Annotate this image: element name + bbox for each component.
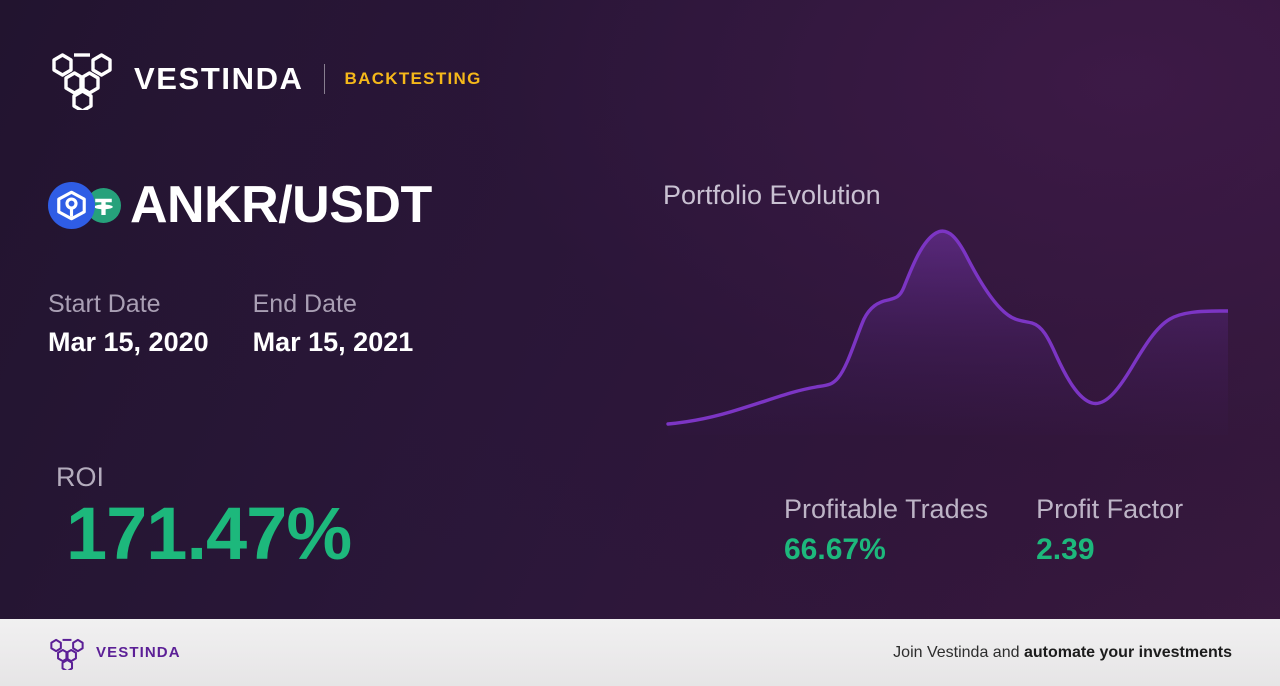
chart-title: Portfolio Evolution: [663, 180, 881, 211]
header: VESTINDA BACKTESTING: [48, 48, 482, 110]
vestinda-hex-logo-icon: [48, 48, 116, 110]
footer-cta: Join Vestinda and automate your investme…: [893, 644, 1232, 662]
trading-pair: ANKR/USDT: [48, 178, 432, 232]
header-divider: [324, 64, 325, 94]
profit-factor-label: Profit Factor: [1036, 492, 1183, 527]
roi-label: ROI: [56, 460, 351, 495]
profit-factor-block: Profit Factor 2.39: [1036, 492, 1183, 572]
footer-brand: VESTINDA: [48, 636, 181, 670]
footer-cta-lead: Join Vestinda and: [893, 644, 1024, 661]
footer-brand-name: VESTINDA: [96, 644, 181, 661]
date-range: Start Date Mar 15, 2020 End Date Mar 15,…: [48, 288, 413, 362]
end-date-block: End Date Mar 15, 2021: [253, 288, 414, 362]
roi-value: 171.47%: [66, 495, 351, 573]
pair-name: ANKR/USDT: [130, 179, 432, 231]
profitable-trades-block: Profitable Trades 66.67%: [784, 492, 988, 572]
end-date-label: End Date: [253, 288, 414, 322]
brand-name: VESTINDA: [134, 61, 304, 97]
portfolio-evolution-chart: [660, 215, 1228, 435]
profitable-trades-value: 66.67%: [784, 527, 988, 572]
vestinda-hex-logo-icon: [48, 636, 86, 670]
profit-factor-value: 2.39: [1036, 527, 1183, 572]
coin-pair-icons: [48, 178, 130, 232]
footer: VESTINDA Join Vestinda and automate your…: [0, 619, 1280, 686]
roi-block: ROI 171.47%: [56, 460, 351, 573]
end-date-value: Mar 15, 2021: [253, 322, 414, 363]
start-date-block: Start Date Mar 15, 2020: [48, 288, 209, 362]
start-date-value: Mar 15, 2020: [48, 322, 209, 363]
header-tag: BACKTESTING: [345, 69, 482, 89]
backtest-result-card: VESTINDA BACKTESTING ANKR/USDT: [0, 0, 1280, 686]
start-date-label: Start Date: [48, 288, 209, 322]
performance-stats: Profitable Trades 66.67% Profit Factor 2…: [784, 492, 1183, 572]
ankr-coin-icon: [48, 182, 95, 229]
footer-cta-bold: automate your investments: [1024, 644, 1232, 661]
profitable-trades-label: Profitable Trades: [784, 492, 988, 527]
